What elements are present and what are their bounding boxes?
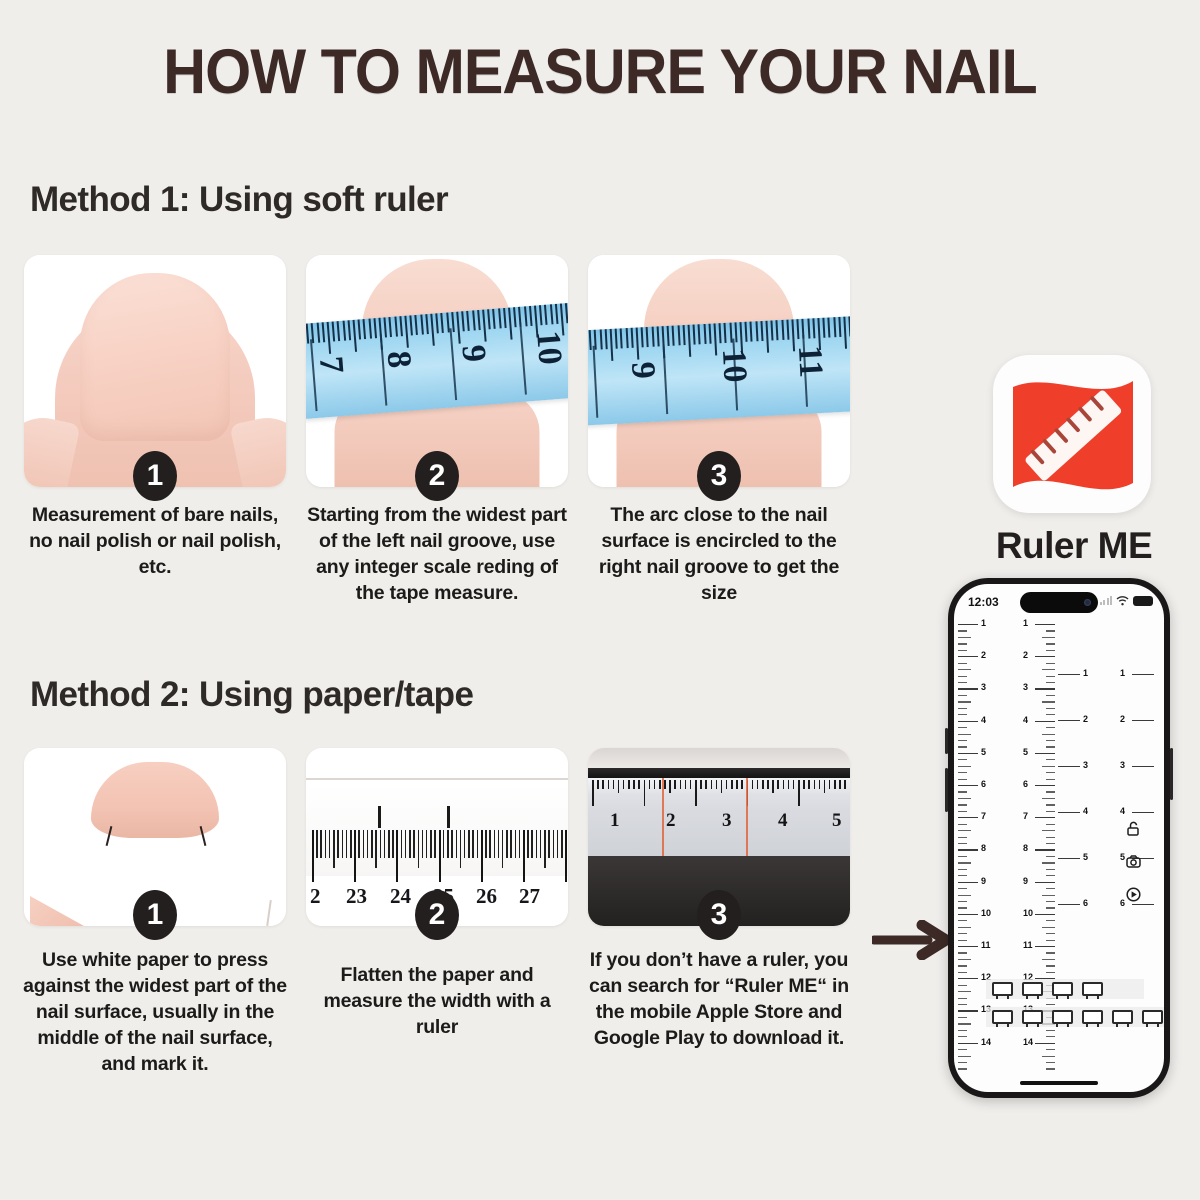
tape-number: 9 — [623, 361, 662, 380]
tape-number: 7 — [311, 355, 350, 375]
step-caption-m2-s2: Flatten the paper and measure the width … — [302, 963, 572, 1041]
metal-ruler-face: 1 2 3 4 5 — [588, 778, 850, 856]
step-caption-m1-s1: Measurement of bare nails, no nail polis… — [20, 503, 290, 581]
nail-size-marker[interactable] — [1052, 982, 1073, 996]
method-2-heading: Method 2: Using paper/tape — [30, 675, 473, 715]
tape-measure-illustration: 7 8 9 10 — [306, 302, 568, 419]
camera-icon — [1125, 853, 1142, 870]
front-camera-icon — [1084, 599, 1091, 606]
step-caption-m1-s3: The arc close to the nail surface is enc… — [584, 503, 854, 607]
infographic-page: HOW TO MEASURE YOUR NAIL Method 1: Using… — [0, 0, 1200, 1200]
app-name-label: Ruler ME — [960, 525, 1188, 567]
nail-size-marker[interactable] — [1022, 982, 1043, 996]
step-caption-m2-s3: If you don’t have a ruler, you can searc… — [584, 948, 854, 1052]
battery-icon — [1133, 596, 1153, 606]
wifi-icon — [1116, 595, 1129, 606]
phone-mockup: 12:03 1234567891011121314123456789101112… — [948, 578, 1170, 1098]
tape-measure-illustration: 9 10 11 — [588, 316, 850, 426]
nail-size-marker[interactable] — [992, 1010, 1013, 1024]
paper-top-edge — [306, 778, 568, 780]
pencil-mark-b — [447, 806, 450, 828]
phone-edge — [588, 768, 850, 778]
step-badge-m1-s2: 2 — [415, 451, 459, 501]
signal-bars-icon — [1100, 596, 1113, 605]
status-bar-indicators — [1100, 595, 1154, 606]
tape-number: 11 — [790, 345, 830, 379]
ruler-number: 2 — [666, 810, 676, 832]
ruler-number: 27 — [519, 884, 540, 909]
nail-size-marker[interactable] — [1082, 1010, 1103, 1024]
arrow-right-icon — [872, 920, 958, 960]
nail-size-markers-row-2[interactable] — [992, 1010, 1163, 1024]
phone-screen[interactable]: 12:03 1234567891011121314123456789101112… — [954, 584, 1164, 1092]
desk-surface — [588, 748, 850, 768]
method-1-heading: Method 1: Using soft ruler — [30, 180, 448, 220]
finger-corner-illustration — [30, 896, 84, 926]
ruler-app-icon[interactable] — [993, 355, 1151, 513]
step-badge-m2-s1: 1 — [133, 890, 177, 940]
ruler-guide-line-right — [746, 778, 748, 856]
ruler-number: 2 — [310, 884, 321, 909]
nail-size-markers-row-1[interactable] — [992, 982, 1103, 996]
ruler-number: 1 — [610, 810, 620, 832]
ruler-number: 24 — [390, 884, 411, 909]
nail-size-marker[interactable] — [1052, 1010, 1073, 1024]
status-bar-time: 12:03 — [968, 595, 999, 609]
ruler-face: 2 23 24 25 26 27 — [306, 784, 568, 876]
step-badge-m2-s2: 2 — [415, 890, 459, 940]
tape-number: 8 — [379, 350, 418, 370]
timer-icon — [1125, 886, 1142, 903]
nail-size-marker[interactable] — [1022, 1010, 1043, 1024]
pencil-mark-a — [378, 806, 381, 828]
ruler-guide-line-left — [662, 778, 664, 856]
tape-number: 10 — [528, 329, 568, 366]
step-caption-m1-s2: Starting from the widest part of the lef… — [302, 503, 572, 607]
nail-size-marker[interactable] — [1112, 1010, 1133, 1024]
tape-number: 10 — [714, 348, 754, 384]
home-bar[interactable] — [1020, 1081, 1098, 1085]
step-badge-m2-s3: 3 — [697, 890, 741, 940]
tape-number: 9 — [453, 344, 492, 364]
dynamic-island — [1020, 592, 1098, 613]
step-badge-m1-s1: 1 — [133, 451, 177, 501]
ruler-number: 4 — [778, 810, 788, 832]
nail-size-marker[interactable] — [992, 982, 1013, 996]
step-caption-m2-s1: Use white paper to press against the wid… — [20, 948, 290, 1078]
screen-tool-icons[interactable] — [1125, 820, 1142, 903]
paper-edge-line — [266, 900, 272, 926]
ruler-number: 23 — [346, 884, 367, 909]
nail-plate-illustration — [80, 273, 230, 441]
nail-size-marker[interactable] — [1142, 1010, 1163, 1024]
unlock-icon — [1125, 820, 1142, 837]
page-title: HOW TO MEASURE YOUR NAIL — [36, 36, 1164, 108]
phone-power-button[interactable] — [1170, 748, 1173, 800]
ruler-number: 3 — [722, 810, 732, 832]
step-badge-m1-s3: 3 — [697, 451, 741, 501]
nail-size-marker[interactable] — [1082, 982, 1103, 996]
ruler-number: 5 — [832, 810, 842, 832]
ruler-number: 26 — [476, 884, 497, 909]
